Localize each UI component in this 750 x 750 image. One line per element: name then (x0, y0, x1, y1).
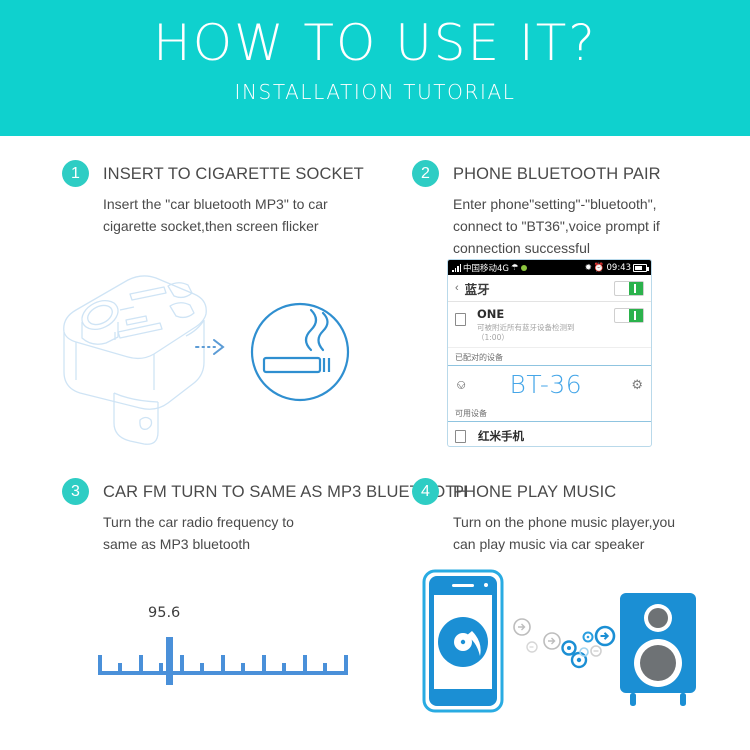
step-1-body: Insert the "car bluetooth MP3" to car ci… (103, 193, 364, 237)
step-3-number: 3 (62, 478, 89, 505)
bluetooth-stream-icon (514, 619, 614, 667)
battery-icon (633, 264, 647, 272)
wifi-icon: ☂ (511, 263, 519, 273)
step-4-body-line-2: can play music via car speaker (453, 533, 675, 555)
carrier-label: 中国移动4G (463, 262, 509, 274)
available-device-name: 红米手机 (478, 428, 524, 444)
step-4: 4 PHONE PLAY MUSIC Turn on the phone mus… (412, 481, 675, 555)
step-4-illustration (412, 565, 712, 720)
step-2-body: Enter phone"setting"-"bluetooth", connec… (453, 193, 661, 259)
speaker-icon (620, 593, 696, 706)
step-2-title: PHONE BLUETOOTH PAIR (453, 163, 661, 185)
phone-status-bar: 中国移动4G ☂ ✹ ⏰ 09:43 (448, 260, 651, 275)
status-dot-icon (521, 265, 527, 271)
device-square-icon (455, 313, 466, 326)
device-one-description: 可被附近所有蓝牙设备检测到（1:00） (477, 323, 582, 342)
car-charger-icon (64, 276, 207, 444)
step-3-body-line-2: same as MP3 bluetooth (103, 533, 378, 555)
step-1-body-line-1: Insert the "car bluetooth MP3" to car (103, 193, 364, 215)
device-visibility-row[interactable]: ONE 可被附近所有蓝牙设备检测到（1:00） (448, 302, 651, 348)
fm-dial-illustration: 95.6 (98, 605, 348, 685)
step-1-title: INSERT TO CIGARETTE SOCKET (103, 163, 364, 185)
bluetooth-icon: ✹ (585, 263, 592, 273)
step-2-number: 2 (412, 160, 439, 187)
cigarette-icon (252, 304, 348, 400)
fm-frequency-label: 95.6 (148, 605, 180, 621)
device-one-text: ONE 可被附近所有蓝牙设备检测到（1:00） (477, 308, 582, 342)
back-icon[interactable]: ‹ (455, 282, 459, 294)
page-subtitle: INSTALLATION TUTORIAL (235, 82, 516, 102)
step-1-body-line-2: cigarette socket,then screen flicker (103, 215, 364, 237)
page-title: HOW TO USE IT? (153, 18, 597, 68)
step-2-body-line-1: Enter phone"setting"-"bluetooth", (453, 193, 661, 215)
device-visibility-toggle[interactable] (614, 308, 644, 323)
step-2: 2 PHONE BLUETOOTH PAIR Enter phone"setti… (412, 163, 661, 259)
fm-dial-indicator (166, 637, 173, 685)
paired-devices-label: 已配对的设备 (448, 348, 651, 366)
smartphone-icon (424, 571, 502, 711)
bluetooth-title: 蓝牙 (465, 279, 490, 298)
bluetooth-master-toggle[interactable] (614, 281, 644, 296)
clock-label: 09:43 (607, 263, 632, 273)
step-1-number: 1 (62, 160, 89, 187)
step-4-head: 4 PHONE PLAY MUSIC (412, 481, 675, 505)
signal-bars-icon (452, 264, 461, 272)
step-1: 1 INSERT TO CIGARETTE SOCKET Insert the … (62, 163, 364, 237)
paired-device-row[interactable]: ⎉ BT-36 ⚙ (448, 366, 651, 404)
alarm-icon: ⏰ (594, 263, 605, 273)
available-device-square-icon (455, 430, 466, 443)
step-3-body-line-1: Turn the car radio frequency to (103, 511, 378, 533)
available-device-row[interactable]: 红米手机 (448, 422, 651, 447)
step-3-body: Turn the car radio frequency to same as … (103, 511, 378, 555)
step-4-number: 4 (412, 478, 439, 505)
step-3-head: 3 CAR FM TURN TO SAME AS MP3 BLUETOOTH (62, 481, 468, 505)
phone-bluetooth-screenshot: 中国移动4G ☂ ✹ ⏰ 09:43 ‹ 蓝牙 ONE 可被附近所有蓝牙设备检测… (447, 259, 652, 447)
bluetooth-settings-header: ‹ 蓝牙 (448, 275, 651, 302)
dotted-arrow-icon (196, 340, 223, 354)
paired-device-name: BT-36 (460, 370, 631, 399)
step-3: 3 CAR FM TURN TO SAME AS MP3 BLUETOOTH T… (62, 481, 468, 555)
step-1-head: 1 INSERT TO CIGARETTE SOCKET (62, 163, 364, 187)
step-4-title: PHONE PLAY MUSIC (453, 481, 616, 503)
step-2-head: 2 PHONE BLUETOOTH PAIR (412, 163, 661, 187)
status-bar-left: 中国移动4G ☂ (452, 262, 527, 274)
page-header: HOW TO USE IT? INSTALLATION TUTORIAL (0, 0, 750, 136)
step-4-body: Turn on the phone music player,you can p… (453, 511, 675, 555)
step-4-body-line-1: Turn on the phone music player,you (453, 511, 675, 533)
step-2-body-line-2: connect to "BT36",voice prompt if (453, 215, 661, 237)
available-devices-label: 可用设备 (448, 404, 651, 422)
gear-icon[interactable]: ⚙ (631, 378, 643, 391)
device-one-name: ONE (477, 308, 582, 321)
fm-dial-scale (98, 627, 348, 687)
step-2-body-line-3: connection successful (453, 237, 661, 259)
step-1-illustration (58, 262, 388, 457)
status-bar-right: ✹ ⏰ 09:43 (585, 263, 647, 273)
